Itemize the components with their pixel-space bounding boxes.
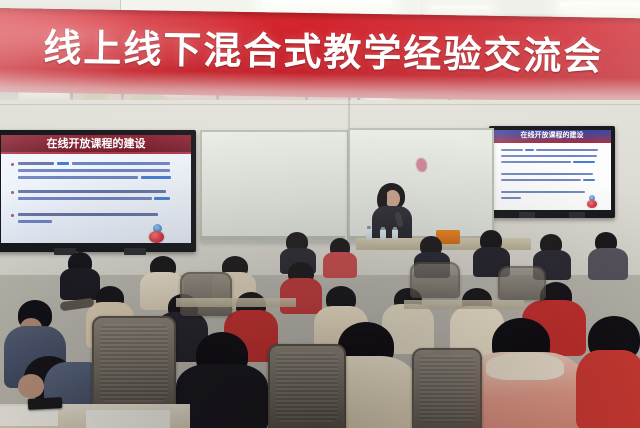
slide-text-line xyxy=(18,220,52,223)
office-chair[interactable] xyxy=(498,266,546,300)
slide-text-keyword xyxy=(57,162,69,165)
slide-bullet-marker xyxy=(11,214,14,217)
attendee-head xyxy=(18,374,44,398)
screen-mount xyxy=(569,212,585,218)
attendee-hood xyxy=(486,352,564,380)
slide-text-line xyxy=(501,173,593,175)
attendee-torso xyxy=(576,350,640,428)
screen-mount xyxy=(124,248,146,255)
slide-text-line xyxy=(536,149,598,151)
bottle-cap xyxy=(393,227,397,230)
slide-text-line xyxy=(501,161,571,163)
left-slide-title: 在线开放课程的建设 xyxy=(1,135,191,152)
ceiling-light xyxy=(560,2,640,9)
slide-text-keyword xyxy=(583,179,595,181)
ceiling-light xyxy=(262,0,392,9)
slide-text-line xyxy=(18,176,138,179)
left-slide-body xyxy=(1,154,191,243)
slide-bullet-marker xyxy=(11,163,14,166)
bottle-cap xyxy=(381,227,385,230)
slide-bullet-marker xyxy=(11,191,14,194)
office-chair[interactable] xyxy=(412,348,482,428)
paper-sheet xyxy=(86,410,170,428)
office-chair[interactable] xyxy=(268,344,346,428)
screen-mount xyxy=(519,212,535,218)
conference-room-photo: 线上线下混合式教学经验交流会 在线开放课程的建设 xyxy=(0,0,640,428)
slide-text-line xyxy=(18,197,152,200)
whiteboard-tray xyxy=(200,236,345,240)
chair-mesh xyxy=(100,324,168,402)
wall-seam xyxy=(0,104,640,105)
whiteboard-left-panel xyxy=(200,130,349,242)
whiteboard-right-panel xyxy=(348,128,494,242)
speaker-head xyxy=(385,190,400,207)
attendee-torso xyxy=(60,268,100,300)
audience-desk xyxy=(404,300,524,309)
water-bottle xyxy=(366,228,372,240)
bottle-cap xyxy=(367,226,371,229)
right-slide-title: 在线开放课程的建设 xyxy=(493,130,611,141)
slide-text-keyword xyxy=(525,149,534,151)
slide-text-line xyxy=(501,155,597,157)
slide-text-line xyxy=(501,197,521,199)
attendee-torso xyxy=(280,278,322,314)
slide-text-keyword xyxy=(573,161,595,163)
slide-text-line xyxy=(18,213,158,216)
slide-text-line xyxy=(18,169,170,172)
right-screen-content: 在线开放课程的建设 xyxy=(493,130,611,210)
left-screen-content: 在线开放课程的建设 xyxy=(1,135,191,243)
slide-text-line xyxy=(18,162,54,165)
smartphone[interactable] xyxy=(28,397,63,410)
slide-text-line xyxy=(501,191,585,193)
audience-desk xyxy=(176,298,296,307)
attendee-torso xyxy=(588,248,628,280)
chair-mesh xyxy=(276,352,338,422)
water-bottle xyxy=(392,229,398,240)
slide-text-keyword xyxy=(154,197,170,200)
slide-text-line xyxy=(501,149,523,151)
slide-text-line xyxy=(72,162,170,165)
slide-text-keyword xyxy=(141,176,171,179)
water-bottle xyxy=(380,229,386,240)
slide-text-line xyxy=(501,179,581,181)
chair-mesh xyxy=(419,355,475,423)
left-display-screen[interactable]: 在线开放课程的建设 xyxy=(0,130,196,252)
slide-seal-logo xyxy=(149,231,164,243)
right-slide-body xyxy=(493,143,611,210)
right-display-screen[interactable]: 在线开放课程的建设 xyxy=(489,126,615,218)
attendee-torso xyxy=(323,252,357,278)
event-banner: 线上线下混合式教学经验交流会 xyxy=(0,8,640,114)
whiteboard-marker-smudge xyxy=(416,158,427,172)
slide-seal-logo xyxy=(587,200,597,208)
slide-text-line xyxy=(18,190,166,193)
office-chair[interactable] xyxy=(92,316,176,412)
office-chair[interactable] xyxy=(180,272,232,316)
office-chair[interactable] xyxy=(410,262,460,298)
ceiling-light xyxy=(430,6,490,11)
